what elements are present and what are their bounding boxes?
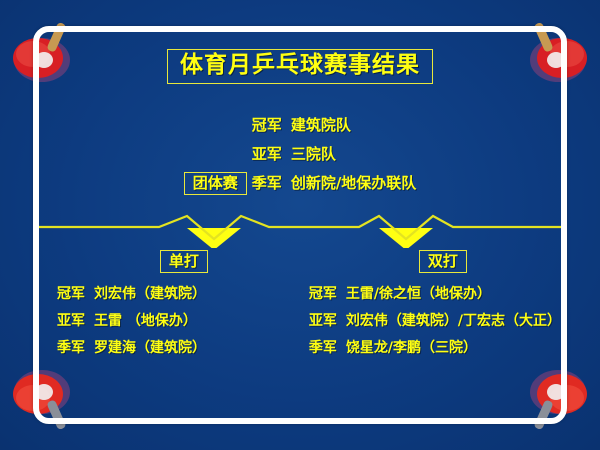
singles-results-list: 冠军刘宏伟（建筑院） 亚军王雷 （地保办） 季军罗建海（建筑院）	[39, 287, 299, 355]
team-section-label: 团体赛	[184, 172, 247, 195]
table-row: 亚军王雷 （地保办）	[57, 314, 299, 328]
singles-header: 单打	[39, 250, 299, 273]
singles-section-label: 单打	[160, 250, 208, 273]
doubles-results-list: 冠军王雷/徐之恒（地保办） 亚军刘宏伟（建筑院）/丁宏志（大正） 季军饶星龙/李…	[299, 287, 561, 355]
doubles-section-label: 双打	[419, 250, 467, 273]
singles-section: 单打 冠军刘宏伟（建筑院） 亚军王雷 （地保办） 季军罗建海（建筑院）	[39, 250, 299, 368]
rank-label: 亚军	[252, 147, 282, 162]
rank-label: 季军	[57, 341, 85, 355]
table-row: 季军罗建海（建筑院）	[57, 341, 299, 355]
rank-value: 饶星龙/李鹏（三院）	[346, 340, 477, 356]
slide-title: 体育月乒乓球赛事结果	[167, 49, 433, 84]
table-row: 亚军刘宏伟（建筑院）/丁宏志（大正）	[309, 314, 561, 328]
zigzag-divider-icon	[39, 214, 561, 248]
rank-value: 王雷/徐之恒（地保办）	[346, 286, 491, 302]
bottom-columns: 单打 冠军刘宏伟（建筑院） 亚军王雷 （地保办） 季军罗建海（建筑院） 双	[39, 250, 561, 368]
rank-value: 刘宏伟（建筑院）	[94, 286, 206, 302]
rank-label: 冠军	[309, 287, 337, 301]
doubles-section: 双打 冠军王雷/徐之恒（地保办） 亚军刘宏伟（建筑院）/丁宏志（大正） 季军饶星…	[299, 250, 561, 368]
table-row: 季军饶星龙/李鹏（三院）	[309, 341, 561, 355]
rank-value: 创新院/地保办联队	[291, 174, 416, 192]
rank-label: 冠军	[57, 287, 85, 301]
doubles-header: 双打	[299, 250, 561, 273]
table-row: 季军创新院/地保办联队	[252, 176, 417, 191]
zigzag-divider	[39, 214, 561, 248]
table-row: 亚军三院队	[252, 147, 417, 162]
team-results-list: 冠军建筑院队 亚军三院队 季军创新院/地保办联队	[252, 118, 417, 205]
rank-value: 建筑院队	[291, 116, 351, 134]
rank-label: 亚军	[57, 314, 85, 328]
rank-label: 冠军	[252, 118, 282, 133]
rank-value: 王雷 （地保办）	[94, 313, 197, 329]
rank-label: 季军	[252, 176, 282, 191]
rank-value: 罗建海（建筑院）	[94, 340, 206, 356]
table-row: 冠军王雷/徐之恒（地保办）	[309, 287, 561, 301]
presentation-slide: 体育月乒乓球赛事结果 团体赛 冠军建筑院队 亚军三院队 季军创新院/地保办联队	[0, 0, 600, 450]
team-section: 团体赛 冠军建筑院队 亚军三院队 季军创新院/地保办联队	[39, 104, 561, 205]
rank-label: 亚军	[309, 314, 337, 328]
table-row: 冠军建筑院队	[252, 118, 417, 133]
slide-content: 体育月乒乓球赛事结果 团体赛 冠军建筑院队 亚军三院队 季军创新院/地保办联队	[39, 32, 561, 418]
table-row: 冠军刘宏伟（建筑院）	[57, 287, 299, 301]
title-area: 体育月乒乓球赛事结果	[39, 49, 561, 84]
rank-value: 刘宏伟（建筑院）/丁宏志（大正）	[346, 313, 561, 329]
rank-value: 三院队	[291, 145, 336, 163]
rank-label: 季军	[309, 341, 337, 355]
